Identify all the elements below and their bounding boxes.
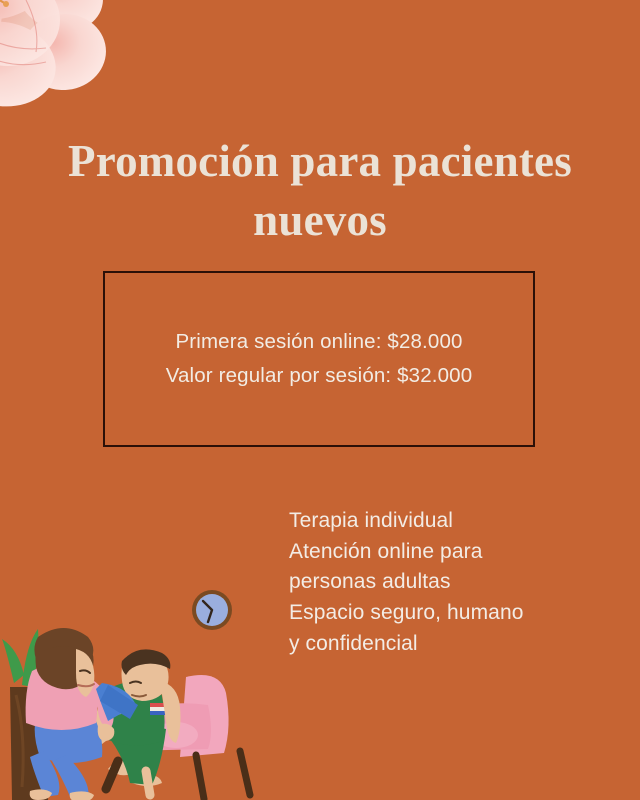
price-box-content: Primera sesión online: $28.000 Valor reg… — [105, 273, 533, 445]
page-title: Promoción para pacientes nuevos — [0, 132, 640, 251]
feature-line-1: Terapia individual — [289, 506, 619, 537]
promo-price-line: Primera sesión online: $28.000 — [175, 326, 462, 358]
title-line-2: nuevos — [28, 191, 612, 250]
therapist-figure — [26, 628, 138, 800]
therapy-session-illustration — [0, 585, 262, 800]
feature-line-3: personas adultas — [289, 567, 619, 598]
armchair — [126, 675, 250, 799]
patient-figure — [91, 649, 181, 795]
promo-poster: Promoción para pacientes nuevos Primera … — [0, 0, 640, 800]
title-line-1: Promoción para pacientes — [28, 132, 612, 191]
feature-line-2: Atención online para — [289, 537, 619, 568]
wall-clock-icon — [192, 590, 232, 630]
price-box: Primera sesión online: $28.000 Valor reg… — [103, 271, 535, 447]
features-list: Terapia individual Atención online para … — [289, 506, 619, 659]
potted-plant — [2, 629, 78, 800]
regular-price-line: Valor regular por sesión: $32.000 — [166, 360, 473, 392]
cherry-blossom-icon — [0, 0, 128, 130]
feature-line-4: Espacio seguro, humano — [289, 598, 619, 629]
feature-line-5: y confidencial — [289, 629, 619, 660]
